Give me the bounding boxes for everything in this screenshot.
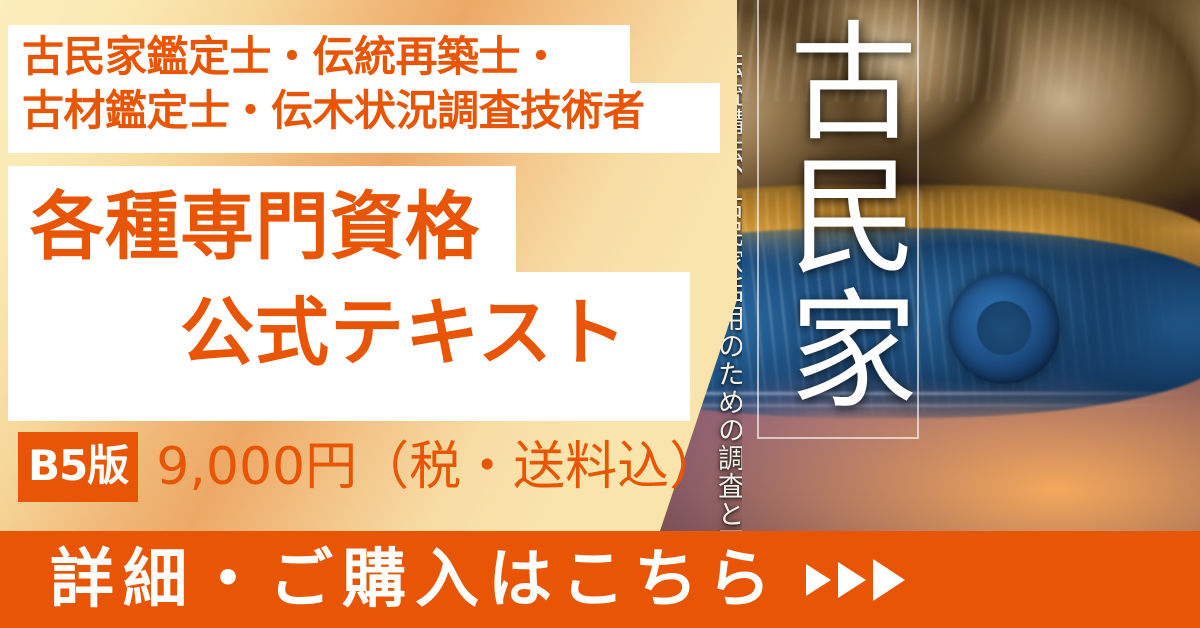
promo-banner: 伝統構法、古民家活用のための調査と再生の 古民家 古民家鑑定士・伝統再築士・ 古… [0,0,1200,628]
play-arrow-icon [806,564,831,596]
cta-bar[interactable]: 詳細・ご購入はこちら [0,531,1200,628]
play-arrow-icon [873,559,905,601]
qualifications-line-1: 古民家鑑定士・伝統再築士・ [22,36,562,78]
play-arrow-icon [838,562,866,598]
cta-label: 詳細・ご購入はこちら [50,548,780,612]
book-cover-title: 古民家 [766,6,910,426]
family-crest-tile [948,272,1060,384]
cta-arrow-group [806,559,905,601]
headline-line-1: 各種専門資格 [30,190,480,264]
qualifications-card: 古民家鑑定士・伝統再築士・ 古材鑑定士・伝木状況調査技術者 [8,25,720,153]
price-row: B5版 9,000円（税・送料込） [18,431,721,503]
price-amount: 9,000円（税・送料込） [156,441,721,493]
format-badge: B5版 [18,432,138,502]
headline-line-2: 公式テキスト [180,296,628,370]
qualifications-line-2: 古材鑑定士・伝木状況調査技術者 [22,90,645,132]
